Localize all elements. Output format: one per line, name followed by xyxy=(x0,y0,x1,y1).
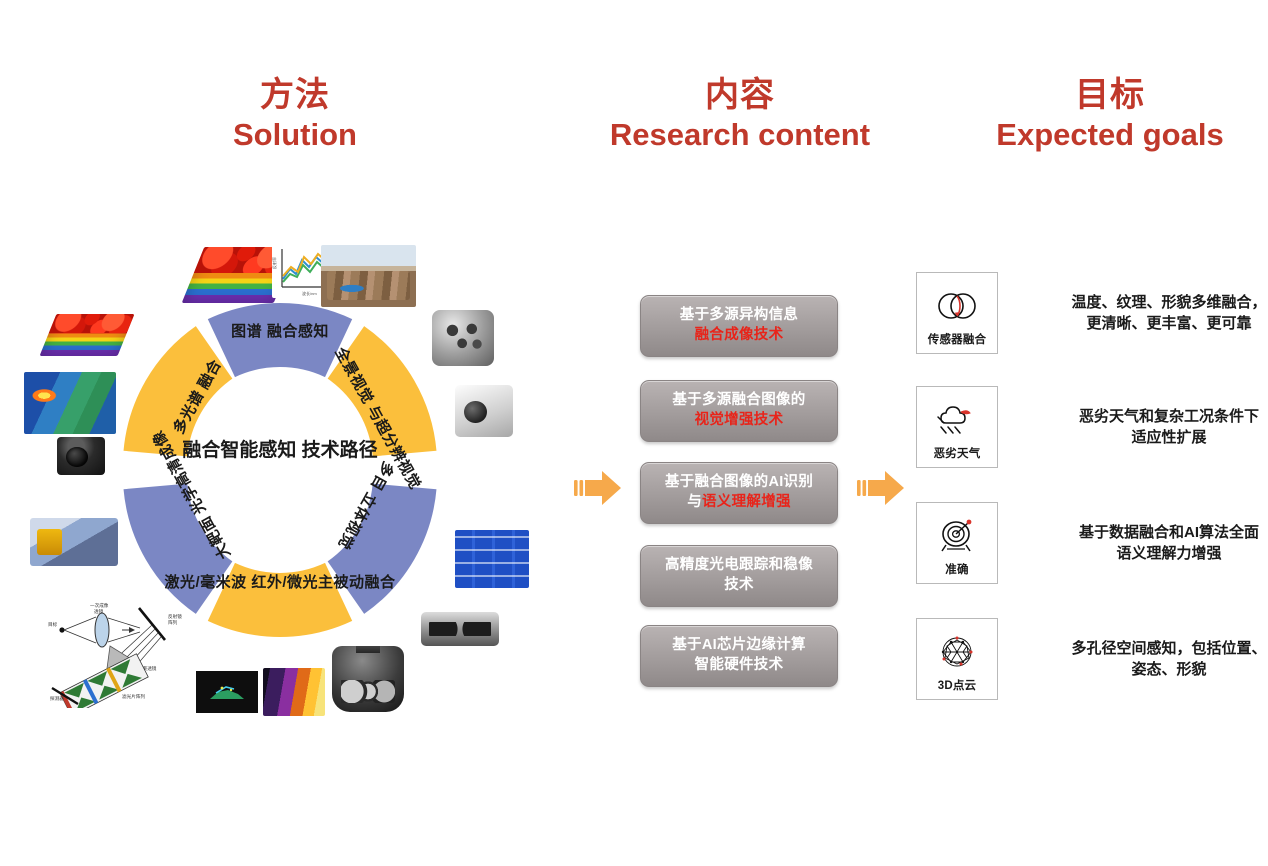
goal-text-bad-weather: 恶劣天气和复杂工况条件下 适应性扩展 xyxy=(1038,406,1268,449)
goal-caption-bad-weather: 恶劣天气 xyxy=(934,445,981,461)
ring-label-spectral-fusion-sensing: 图谱 融合感知 xyxy=(225,323,335,341)
svg-text:一次成像: 一次成像 xyxy=(90,602,109,609)
research-box-line1: 基于多源融合图像的 xyxy=(672,391,805,411)
header-goals-en: Expected goals xyxy=(960,117,1260,154)
goal-caption-accuracy: 准确 xyxy=(945,561,968,577)
ring-label-line1: 图谱 xyxy=(231,323,262,340)
goal-text-line1: 恶劣天气和复杂工况条件下 xyxy=(1038,406,1268,427)
svg-text:透镜: 透镜 xyxy=(94,608,104,615)
thumbnail-stereo-depth-map xyxy=(455,530,529,588)
research-box-ai-chip-edge-computing[interactable]: 基于AI芯片边缘计算 智能硬件技术 xyxy=(640,625,838,687)
goal-icon-box-point-cloud[interactable]: 3D点云 xyxy=(916,618,998,700)
thumbnail-thermal-scene xyxy=(263,668,325,716)
svg-text:探测器: 探测器 xyxy=(50,695,64,702)
research-box-line2: 技术 xyxy=(665,576,813,596)
goal-text-line1: 基于数据融合和AI算法全面 xyxy=(1038,522,1268,543)
ring-label-line1: 激光/毫米波 xyxy=(164,574,246,591)
research-box-line1: 基于AI芯片边缘计算 xyxy=(672,636,806,656)
svg-text:滤光片阵列: 滤光片阵列 xyxy=(122,693,145,700)
goal-text-point-cloud: 多孔径空间感知，包括位置、 姿态、形貌 xyxy=(1038,638,1268,681)
goal-row-bad-weather: 恶劣天气 恶劣天气和复杂工况条件下 适应性扩展 xyxy=(916,386,1268,468)
thumbnail-gimbal-eo-pod xyxy=(332,646,404,712)
goal-text-line1: 多孔径空间感知，包括位置、 xyxy=(1038,638,1268,659)
header-solution-zh: 方法 xyxy=(155,75,435,115)
research-box-line2: 融合成像技术 xyxy=(680,326,798,346)
ring-center-label: 融合智能感知 技术路径 xyxy=(170,438,390,464)
ring-center-line1: 融合智能感知 xyxy=(182,440,296,461)
column-header-content: 内容 Research content xyxy=(595,75,885,154)
research-box-multi-source-fusion-imaging[interactable]: 基于多源异构信息 融合成像技术 xyxy=(640,295,838,357)
goal-text-line2: 更清晰、更丰富、更可靠 xyxy=(1038,313,1268,334)
column-header-solution: 方法 Solution xyxy=(155,75,435,154)
ring-label-laser-mmwave-ir-fusion: 激光/毫米波 红外/微光主被动融合 xyxy=(130,574,430,592)
thumbnail-night-vision-camera xyxy=(57,437,105,475)
goal-text-line1: 温度、纹理、形貌多维融合， xyxy=(1038,292,1268,313)
research-box-line1: 高精度光电跟踪和稳像 xyxy=(665,556,813,576)
goal-text-accuracy: 基于数据融合和AI算法全面 语义理解力增强 xyxy=(1038,522,1268,565)
research-box-visual-enhancement[interactable]: 基于多源融合图像的 视觉增强技术 xyxy=(640,380,838,442)
point-cloud-sphere-icon xyxy=(935,626,979,677)
goal-icon-box-accuracy[interactable]: 准确 xyxy=(916,502,998,584)
header-content-zh: 内容 xyxy=(595,75,885,115)
research-box-line1: 基于多源异构信息 xyxy=(680,306,798,326)
thumbnail-fiber-optic-module xyxy=(30,518,118,566)
goal-row-sensor-fusion: 传感器融合 温度、纹理、形貌多维融合， 更清晰、更丰富、更可靠 xyxy=(916,272,1268,354)
ring-label-line2: 融合感知 xyxy=(267,323,329,340)
goal-icon-box-bad-weather[interactable]: 恶劣天气 xyxy=(916,386,998,468)
column-header-goals: 目标 Expected goals xyxy=(960,75,1260,154)
header-solution-en: Solution xyxy=(155,117,435,154)
goal-row-accuracy: 准确 基于数据融合和AI算法全面 语义理解力增强 xyxy=(916,502,1268,584)
venn-circles-icon xyxy=(934,280,980,331)
arrow-content-to-goals xyxy=(855,462,907,514)
goal-text-sensor-fusion: 温度、纹理、形貌多维融合， 更清晰、更丰富、更可靠 xyxy=(1038,292,1268,335)
svg-text:波长/nm: 波长/nm xyxy=(302,290,317,296)
ring-center-line2: 技术路径 xyxy=(302,440,378,461)
header-goals-zh: 目标 xyxy=(960,75,1260,115)
svg-text:目标: 目标 xyxy=(48,621,58,628)
svg-text:反射率: 反射率 xyxy=(272,257,277,269)
research-box-line2: 智能硬件技术 xyxy=(672,656,806,676)
diagram-canvas: 方法 Solution 内容 Research content 目标 Expec… xyxy=(0,0,1268,866)
goal-icon-box-sensor-fusion[interactable]: 传感器融合 xyxy=(916,272,998,354)
ring-label-line2: 红外/微光主被动融合 xyxy=(251,574,395,591)
goal-text-line2: 姿态、形貌 xyxy=(1038,659,1268,680)
research-box-ai-recognition-semantics[interactable]: 基于融合图像的AI识别 与语义理解增强 xyxy=(640,462,838,524)
research-box-line2: 视觉增强技术 xyxy=(672,411,805,431)
research-box-high-precision-tracking[interactable]: 高精度光电跟踪和稳像 技术 xyxy=(640,545,838,607)
header-content-en: Research content xyxy=(595,117,885,154)
goal-caption-sensor-fusion: 传感器融合 xyxy=(928,331,987,347)
research-box-line2-prefix: 与 xyxy=(687,494,702,510)
goal-text-line2: 语义理解力增强 xyxy=(1038,543,1268,564)
goal-row-point-cloud: 3D点云 多孔径空间感知，包括位置、 姿态、形貌 xyxy=(916,618,1268,700)
rain-cloud-icon xyxy=(934,394,980,445)
technology-roadmap-ring: 图谱 融合感知 全景视觉 与超分辨视觉 多目 立体视觉 激光/毫米波 红外/微光… xyxy=(110,300,450,640)
thumbnail-optical-instrument xyxy=(455,385,513,437)
goal-caption-point-cloud: 3D点云 xyxy=(938,677,977,693)
ring-segment-laser-mmwave-ir-fusion xyxy=(221,592,338,605)
research-box-line2-highlight: 语义理解增强 xyxy=(702,494,791,510)
research-box-line2: 与语义理解增强 xyxy=(665,493,813,513)
research-box-line1: 基于融合图像的AI识别 xyxy=(665,473,813,493)
goal-text-line2: 适应性扩展 xyxy=(1038,427,1268,448)
thumbnail-pipeline-field-photo xyxy=(321,245,416,307)
point-cloud-overlay xyxy=(196,671,258,713)
arrow-solution-to-content xyxy=(572,462,624,514)
target-dart-icon xyxy=(934,510,980,561)
thumbnail-thermal-infrared-image xyxy=(24,372,116,434)
